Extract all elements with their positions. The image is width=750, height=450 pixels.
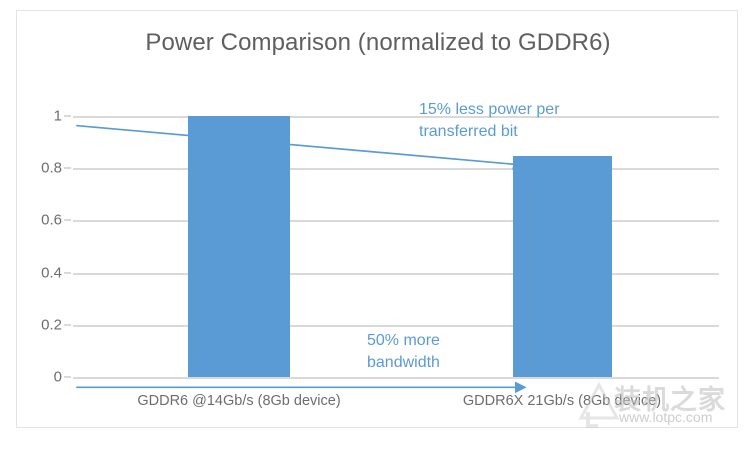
annotation-power-line1: 15% less power per bbox=[419, 99, 560, 121]
x-axis-label-gddr6: GDDR6 @14Gb/s (8Gb device) bbox=[137, 393, 340, 409]
chart-title: Power Comparison (normalized to GDDR6) bbox=[17, 29, 739, 57]
y-tickmark-0.8 bbox=[64, 167, 71, 169]
y-tickmark-0.2 bbox=[64, 324, 71, 326]
y-tickmark-0 bbox=[64, 376, 71, 378]
gridline-0.8 bbox=[73, 168, 719, 170]
gridline-0.6 bbox=[73, 220, 719, 222]
gridline-0 bbox=[73, 377, 719, 379]
annotation-bandwidth-line1: 50% more bbox=[367, 330, 440, 352]
gridline-0.2 bbox=[73, 325, 719, 327]
y-axis-label-0: 0 bbox=[54, 369, 62, 386]
annotation-bandwidth-line2: bandwidth bbox=[367, 352, 440, 374]
annotation-power-text: 15% less power per transferred bit bbox=[419, 99, 560, 143]
y-tickmark-0.6 bbox=[64, 219, 71, 221]
x-axis-label-gddr6x: GDDR6X 21Gb/s (8Gb device) bbox=[463, 393, 661, 409]
annotation-power-line2: transferred bit bbox=[419, 121, 560, 143]
bar-gddr6x[interactable] bbox=[513, 156, 612, 377]
y-tickmark-1 bbox=[64, 115, 71, 117]
annotation-bandwidth-text: 50% more bandwidth bbox=[367, 330, 440, 374]
gridline-0.4 bbox=[73, 273, 719, 275]
y-axis-label-0.4: 0.4 bbox=[41, 264, 62, 281]
y-axis-label-1: 1 bbox=[54, 108, 62, 125]
y-tickmark-0.4 bbox=[64, 272, 71, 274]
bar-gddr6[interactable] bbox=[188, 116, 290, 377]
y-axis-label-0.8: 0.8 bbox=[41, 160, 62, 177]
gridline-1 bbox=[73, 116, 719, 118]
y-axis-label-0.2: 0.2 bbox=[41, 316, 62, 333]
chart-container: Power Comparison (normalized to GDDR6) 1… bbox=[16, 10, 738, 428]
y-axis-label-0.6: 0.6 bbox=[41, 212, 62, 229]
